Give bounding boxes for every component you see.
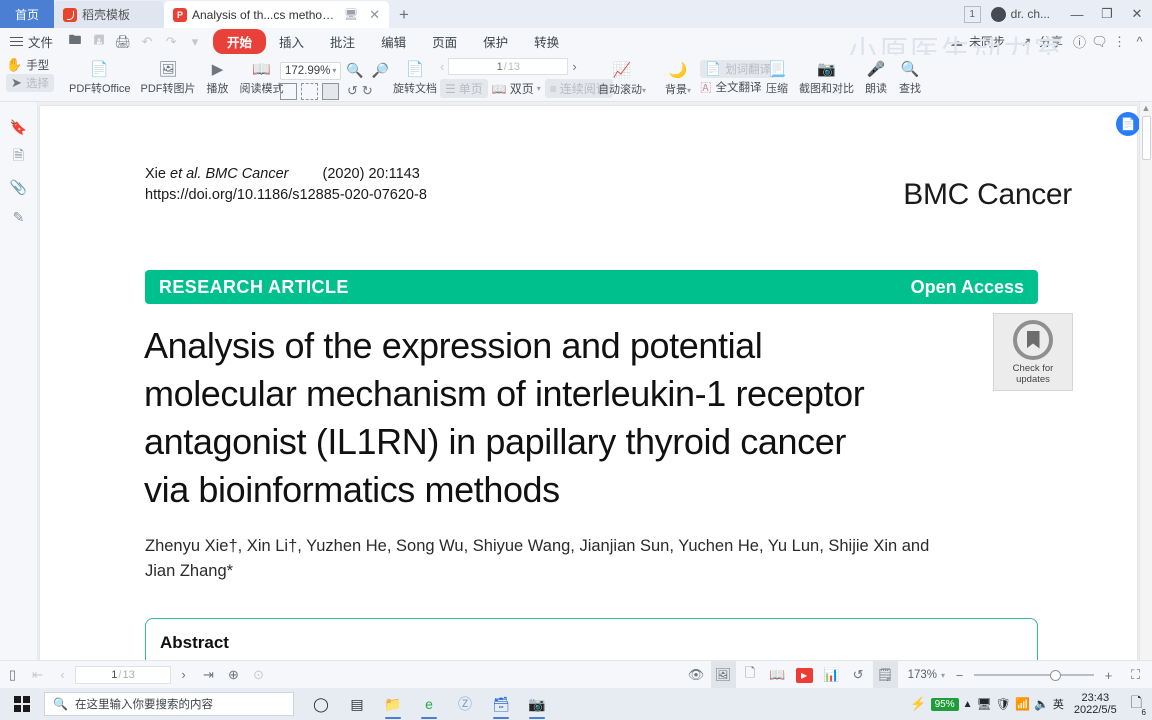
hand-icon: ✋: [6, 57, 22, 73]
pdf-to-office-label: PDF转Office: [69, 80, 131, 96]
thumbnail-icon[interactable]: 🗎: [0, 142, 37, 172]
floating-assistant-button[interactable]: 📄: [1116, 112, 1140, 136]
rotate-document-icon: 📄: [406, 62, 425, 77]
taskbar-icons: ◯ ▤ 📁 e Ⓩ 🗃 📷: [304, 688, 554, 720]
page-number-input[interactable]: 1 / 13: [448, 58, 568, 75]
pdf-to-image-icon: 🖼: [159, 62, 178, 77]
feedback-icon[interactable]: 🗨: [1091, 33, 1108, 50]
clock-date: 2022/5/5: [1074, 704, 1117, 716]
tab-edit[interactable]: 编辑: [368, 30, 419, 53]
task-view-icon[interactable]: ▤: [340, 688, 374, 720]
status-page-current: 1: [111, 669, 117, 681]
journal-name: et al. BMC Cancer: [170, 166, 288, 182]
find-label: 查找: [899, 80, 921, 96]
tab-protect[interactable]: 保护: [470, 30, 521, 53]
author-line-2: Jian Zhang*: [145, 559, 965, 584]
ribbon-page-sep: /: [504, 61, 507, 73]
author-line-1: Zhenyu Xie†, Xin Li†, Yuzhen He, Song Wu…: [145, 534, 965, 559]
share-icon: ➚: [1018, 33, 1035, 50]
auto-scroll-icon: 📈: [613, 63, 632, 78]
start-button[interactable]: [0, 688, 44, 720]
journal-header: Xie et al. BMC Cancer (2020) 20:1143 htt…: [145, 164, 427, 206]
read-mode-label: 阅读模式: [240, 80, 284, 96]
rotate-document-button[interactable]: 📄 旋转文档: [388, 55, 442, 99]
open-folder-icon[interactable]: 🖿: [63, 28, 87, 55]
journal-volume: (2020) 20:1143: [323, 166, 420, 182]
zoom-level-value: 172.99%: [285, 65, 330, 77]
page-title: Analysis of the expression and potential…: [144, 322, 869, 514]
tab-present-icon[interactable]: 🖥: [344, 8, 358, 21]
scroll-up-icon[interactable]: ▲: [1140, 102, 1152, 115]
continuous-scroll-icon: ≡: [550, 82, 557, 96]
hamburger-icon: [10, 34, 23, 49]
document-viewport[interactable]: Xie et al. BMC Cancer (2020) 20:1143 htt…: [38, 102, 1152, 660]
double-page-icon: 📖: [492, 82, 507, 96]
sign-view-icon[interactable]: 🗒: [873, 661, 898, 689]
select-tool[interactable]: ➤ 选择: [6, 74, 54, 92]
user-name: dr. ch...: [1011, 7, 1050, 21]
zoom-level-combo[interactable]: 172.99% ▾: [280, 62, 341, 80]
status-page-sep: /: [118, 669, 121, 681]
fit-width-icon[interactable]: [280, 83, 297, 100]
zoom-out-icon[interactable]: 🔍: [343, 62, 366, 79]
notification-center-icon[interactable]: 🗋 6: [1127, 692, 1146, 716]
status-page-total: 13: [122, 669, 134, 681]
volume-icon[interactable]: 🔈: [1034, 697, 1049, 711]
screenshot-compare-button[interactable]: 📷 截图和对比: [794, 55, 859, 99]
single-page-icon: ☰: [445, 82, 456, 96]
compress-button[interactable]: 📃 压缩: [760, 55, 794, 99]
compress-icon: 📃: [768, 62, 787, 77]
next-page-icon[interactable]: ›: [572, 59, 576, 74]
check-for-updates-badge[interactable]: Check for updates: [993, 313, 1073, 391]
tab-convert[interactable]: 转换: [521, 30, 572, 53]
window-count-badge[interactable]: 1: [964, 6, 981, 23]
camera-app-icon[interactable]: 📷: [520, 688, 554, 720]
full-translate-label: 全文翻译: [716, 79, 762, 95]
hand-select-group: ✋ 手型 ➤ 选择: [6, 55, 54, 92]
journal-brand: BMC Cancer: [903, 178, 1072, 212]
rotate-right-icon[interactable]: ↻: [362, 83, 373, 99]
article-type-banner: RESEARCH ARTICLE Open Access: [145, 270, 1038, 304]
last-page-icon[interactable]: ⇥: [196, 661, 221, 689]
cursor-icon: ➤: [11, 75, 22, 91]
journal-doi: https://doi.org/10.1186/s12885-020-07620…: [145, 185, 427, 206]
fit-page-icon[interactable]: 🖼: [711, 661, 736, 689]
insert-page-icon[interactable]: ⊕: [221, 661, 246, 689]
close-button[interactable]: ✕: [1122, 0, 1152, 28]
tab-home[interactable]: 首页: [0, 0, 54, 28]
search-icon: 🔍: [53, 697, 68, 711]
system-tray: ⚡ 95% ▲ 🖥 🛡 📶 🔈 英 23:43 2022/5/5 🗋 6: [910, 688, 1152, 720]
two-page-icon[interactable]: 📖: [765, 661, 790, 689]
journal-author: Xie: [145, 166, 166, 182]
background-label: 背景▾: [665, 81, 691, 97]
play-button[interactable]: ▶ 播放: [201, 55, 235, 99]
more-icon[interactable]: ⋮: [1111, 33, 1128, 50]
pdf-page: Xie et al. BMC Cancer (2020) 20:1143 htt…: [40, 106, 1137, 660]
redo-icon[interactable]: ↷: [159, 28, 183, 55]
minimize-button[interactable]: —: [1062, 0, 1092, 28]
share-label: 分享: [1039, 33, 1063, 50]
actual-size-icon[interactable]: [322, 83, 339, 100]
chevron-down-icon[interactable]: ▾: [537, 84, 541, 93]
charging-icon: ⚡: [910, 696, 926, 712]
edge-icon[interactable]: e: [412, 688, 446, 720]
abstract-box: Abstract: [145, 618, 1038, 660]
r-app-icon[interactable]: Ⓩ: [448, 688, 482, 720]
single-page-mode[interactable]: ☰ 单页: [440, 79, 488, 98]
double-page-label: 双页: [510, 80, 534, 97]
pdf-to-office-icon: 📄: [90, 62, 109, 77]
show-hidden-icons[interactable]: ▲: [963, 699, 973, 710]
prev-page-icon[interactable]: ‹: [440, 59, 444, 74]
microphone-icon: 🎤: [867, 62, 886, 77]
taskbar-search[interactable]: 🔍 在这里输入你要搜索的内容: [44, 692, 294, 716]
auto-scroll-label: 自动滚动▾: [598, 81, 646, 97]
zoom-in-button[interactable]: +: [1096, 661, 1121, 689]
tab-comment[interactable]: 批注: [317, 30, 368, 53]
screenshot-icon: 📷: [817, 62, 836, 77]
sync-status-label: 未同步: [969, 33, 1005, 50]
ribbon-toolbar: ✋ 手型 ➤ 选择 📄 PDF转Office 🖼 PDF转图片 ▶ 播放: [0, 55, 1152, 102]
restore-button[interactable]: ❐: [1092, 0, 1122, 28]
first-page-icon[interactable]: ⇤: [25, 661, 50, 689]
select-tool-label: 选择: [26, 75, 49, 91]
word-translate-icon: 📄: [705, 61, 721, 77]
ribbon-page-current: 1: [497, 61, 503, 73]
hand-tool-label: 手型: [26, 57, 49, 73]
tab-start[interactable]: 开始: [213, 29, 266, 54]
signature-icon[interactable]: ✎: [0, 202, 37, 232]
tab-insert[interactable]: 插入: [266, 30, 317, 53]
search-placeholder: 在这里输入你要搜索的内容: [75, 696, 213, 712]
page-navigator: ‹ 1 / 13 ›: [440, 58, 577, 75]
page-panel-icon[interactable]: ▯: [0, 661, 25, 689]
rotate-document-label: 旋转文档: [393, 80, 437, 96]
collapse-ribbon-icon[interactable]: ^: [1131, 33, 1148, 50]
battery-level[interactable]: 95%: [931, 698, 959, 711]
tab-close-icon[interactable]: ✕: [363, 7, 380, 23]
status-page-input[interactable]: 1 / 13: [75, 666, 171, 684]
status-right-group: 👁 🖼 🗋 📖 ▶ 📊 ↺ 🗒 173% ▾ − + ⛶: [684, 661, 1148, 689]
pdf-to-image-label: PDF转图片: [141, 80, 196, 96]
menu-right-actions: ☁ 未同步 ➚ 分享 ⓘ 🗨 ⋮ ^: [943, 28, 1148, 55]
windows-taskbar: 🔍 在这里输入你要搜索的内容 ◯ ▤ 📁 e Ⓩ 🗃 📷 ⚡ 95% ▲ 🖥 🛡…: [0, 688, 1152, 720]
screenshot-compare-label: 截图和对比: [799, 80, 854, 96]
new-tab-button[interactable]: +: [389, 1, 419, 28]
tab-template[interactable]: 稻壳模板: [54, 1, 164, 28]
pdf-icon: [173, 8, 187, 22]
prev-page-icon[interactable]: ‹: [50, 661, 75, 689]
chevron-down-icon: ▾: [332, 66, 336, 75]
play-label: 播放: [207, 80, 229, 96]
single-page-label: 单页: [459, 80, 483, 97]
file-menu-label: 文件: [28, 32, 53, 51]
hand-tool[interactable]: ✋ 手型: [6, 57, 54, 73]
play-icon: ▶: [212, 62, 224, 77]
zoom-slider-knob[interactable]: [1050, 670, 1061, 681]
print-icon[interactable]: 🖨: [111, 28, 135, 55]
cloud-icon: ☁: [948, 33, 965, 50]
rotate-left-icon[interactable]: ↺: [343, 83, 358, 99]
next-page-icon[interactable]: ›: [171, 661, 196, 689]
double-page-mode[interactable]: 📖 双页 ▾: [492, 80, 541, 97]
ribbon-page-total: 13: [508, 61, 520, 73]
play-presentation-icon[interactable]: ▶: [792, 661, 817, 689]
full-translate-icon: 🇦: [700, 79, 712, 95]
abstract-heading: Abstract: [160, 633, 1037, 653]
extract-page-icon[interactable]: ⊙: [246, 661, 271, 689]
language-indicator[interactable]: 英: [1053, 696, 1064, 712]
file-explorer-icon[interactable]: 📁: [376, 688, 410, 720]
book-icon: 📖: [252, 62, 271, 77]
user-account[interactable]: dr. ch...: [991, 7, 1050, 22]
background-text: 背景: [665, 84, 687, 96]
chart-view-icon[interactable]: 📊: [819, 661, 844, 689]
auto-scroll-text: 自动滚动: [598, 84, 642, 96]
scrollbar-thumb[interactable]: [1142, 116, 1151, 160]
window-controls: 1 dr. ch... — ❐ ✕: [964, 0, 1152, 28]
attachment-icon[interactable]: 📎: [0, 172, 37, 202]
cortana-icon[interactable]: ◯: [304, 688, 338, 720]
avatar: [991, 7, 1006, 22]
read-aloud-label: 朗读: [865, 80, 887, 96]
wifi-icon[interactable]: 📶: [1015, 697, 1030, 711]
auto-scroll-button[interactable]: 📈 自动滚动▾: [593, 55, 651, 99]
one-page-icon[interactable]: 🗋: [738, 661, 763, 689]
check-updates-line1: Check for: [1013, 363, 1054, 374]
read-aloud-button[interactable]: 🎤 朗读: [859, 55, 893, 99]
tab-template-label: 稻壳模板: [82, 6, 130, 23]
author-list: Zhenyu Xie†, Xin Li†, Yuzhen He, Song Wu…: [145, 534, 965, 584]
zoom-slider[interactable]: [974, 661, 1094, 689]
help-icon[interactable]: ⓘ: [1071, 33, 1088, 50]
banner-right-label: Open Access: [911, 277, 1024, 298]
safety-icon[interactable]: 🛡: [996, 697, 1011, 711]
compress-label: 压缩: [766, 80, 788, 96]
find-button[interactable]: 🔍 查找: [893, 55, 927, 99]
tab-bar: 首页 稻壳模板 Analysis of th...cs methods.pdf …: [0, 0, 1152, 28]
banner-left-label: RESEARCH ARTICLE: [159, 277, 349, 298]
pdf-to-office-button[interactable]: 📄 PDF转Office: [64, 55, 136, 99]
tab-pdf-document[interactable]: Analysis of th...cs methods.pdf 🖥 ✕: [164, 1, 389, 28]
fit-page-icon[interactable]: [301, 83, 318, 100]
sync-status[interactable]: ☁ 未同步: [943, 33, 1010, 50]
undo-icon[interactable]: ↶: [135, 28, 159, 55]
left-rail: 🔖 🗎 📎 ✎: [0, 102, 38, 660]
file-menu-button[interactable]: 文件: [0, 32, 63, 51]
menu-bar: 文件 🖿 🖪 🖨 ↶ ↷ ▾ 开始 插入 批注 编辑 页面 保护 转换 ☁ 未同…: [0, 28, 1152, 55]
wps-pdf-window: 首页 稻壳模板 Analysis of th...cs methods.pdf …: [0, 0, 1152, 720]
eye-icon[interactable]: 👁: [684, 661, 709, 689]
chevron-down-icon[interactable]: ▾: [941, 671, 945, 680]
wps-template-icon: [63, 8, 77, 22]
display-icon[interactable]: 🖥: [977, 697, 992, 711]
notification-count: 6: [1142, 708, 1146, 717]
share-button[interactable]: ➚ 分享: [1013, 33, 1068, 50]
taskbar-clock[interactable]: 23:43 2022/5/5: [1074, 692, 1117, 716]
pdf-to-image-button[interactable]: 🖼 PDF转图片: [136, 55, 201, 99]
ribbon-tabs: 开始 插入 批注 编辑 页面 保护 转换: [213, 29, 572, 54]
zoom-out-button[interactable]: −: [947, 661, 972, 689]
vertical-scrollbar[interactable]: ▲: [1139, 102, 1152, 660]
clock-time: 23:43: [1082, 692, 1110, 704]
crossmark-icon: [1013, 320, 1053, 360]
tab-pdf-label: Analysis of th...cs methods.pdf: [192, 8, 339, 22]
rotate-view-icon[interactable]: ↺: [846, 661, 871, 689]
bookmark-icon[interactable]: 🔖: [0, 112, 37, 142]
customize-icon[interactable]: ▾: [183, 28, 207, 55]
fullscreen-icon[interactable]: ⛶: [1123, 661, 1148, 689]
save-icon[interactable]: 🖪: [87, 28, 111, 55]
status-zoom-value[interactable]: 173%: [908, 669, 937, 681]
tab-page[interactable]: 页面: [419, 30, 470, 53]
search-icon: 🔍: [901, 62, 920, 77]
status-bar: ▯ ⇤ ‹ 1 / 13 › ⇥ ⊕ ⊙ 👁 🖼 🗋 📖 ▶ 📊 ↺ 🗒 173…: [0, 660, 1152, 688]
moon-icon: 🌙: [669, 63, 688, 78]
check-updates-line2: updates: [1016, 374, 1050, 385]
tab-home-label: 首页: [15, 6, 39, 23]
background-button[interactable]: 🌙 背景▾: [660, 55, 696, 99]
wps-writer-icon[interactable]: 🗃: [484, 688, 518, 720]
